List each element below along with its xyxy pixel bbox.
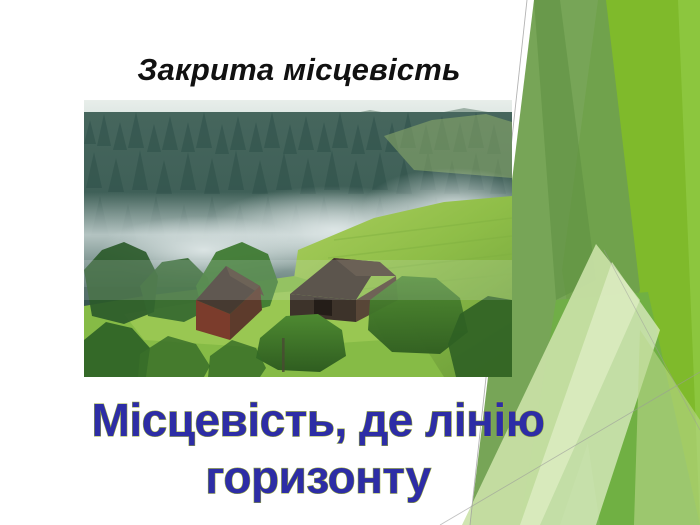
photo-house-right-door: [314, 298, 332, 316]
facet-shape-sage-dark: [534, 0, 596, 300]
slide-title: Закрита місцевість: [84, 48, 514, 94]
facet-shape-light-lime: [614, 0, 700, 525]
slide-photo: [84, 100, 512, 377]
photo-canvas: [84, 100, 512, 377]
facet-line-3: [604, 250, 700, 430]
presentation-slide: Закрита місцевість: [0, 0, 700, 525]
body-headline-line-2: горизонту: [38, 449, 598, 506]
photo-fence-post: [282, 338, 285, 372]
body-headline: Місцевість, де лінію горизонту: [38, 392, 598, 506]
facet-shape-pale-sliver: [634, 330, 700, 525]
body-headline-line-1: Місцевість, де лінію: [38, 392, 598, 449]
photo-haze-overlay: [84, 260, 512, 300]
